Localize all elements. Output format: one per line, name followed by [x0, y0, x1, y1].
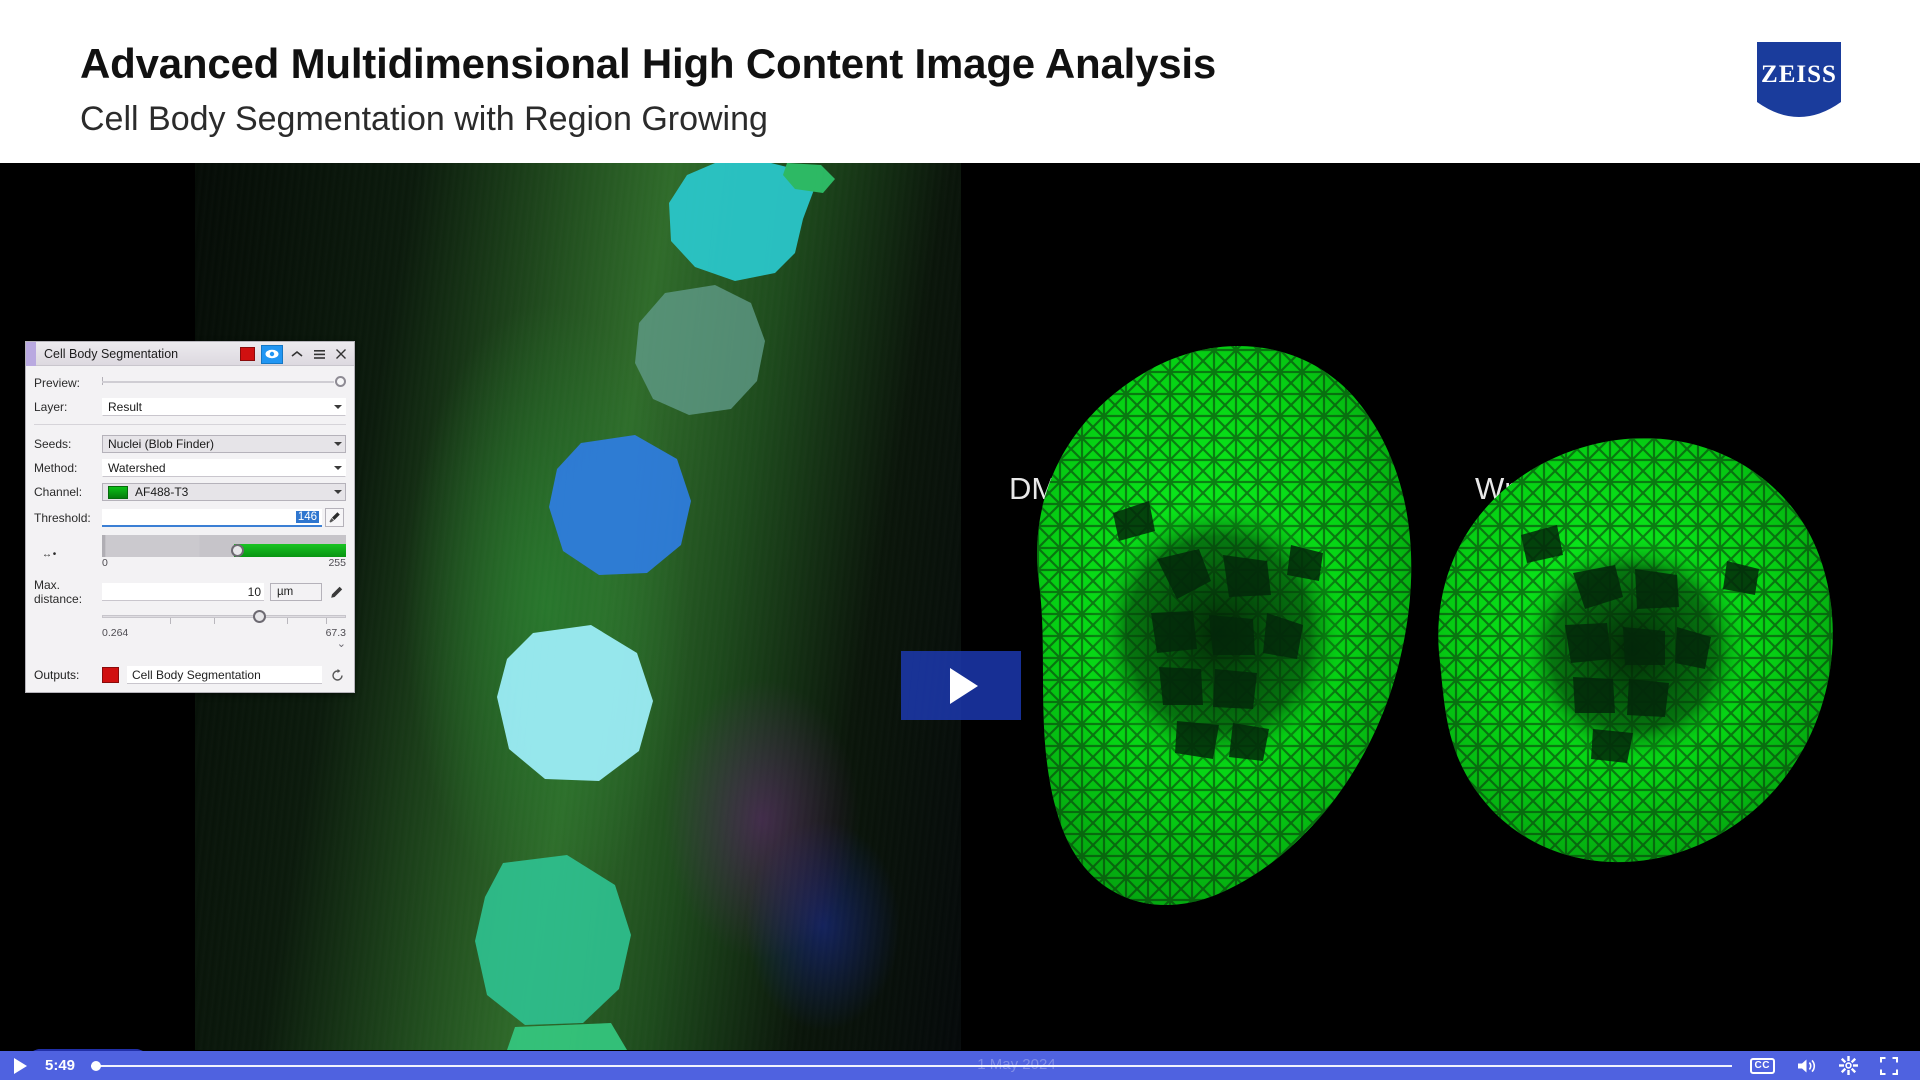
- page-header: Advanced Multidimensional High Content I…: [0, 0, 1920, 163]
- seeds-row[interactable]: Seeds: Nuclei (Blob Finder): [34, 433, 346, 455]
- page-subtitle: Cell Body Segmentation with Region Growi…: [80, 100, 768, 139]
- zeiss-logo-text: ZEISS: [1761, 61, 1837, 88]
- max-distance-slider[interactable]: [102, 609, 346, 625]
- dialog-title: Cell Body Segmentation: [44, 347, 178, 361]
- play-button[interactable]: [14, 1058, 27, 1074]
- max-distance-unit-select[interactable]: µm: [270, 583, 322, 601]
- organoid-dmso: [1037, 346, 1411, 905]
- layer-value: Result: [108, 400, 142, 414]
- method-value: Watershed: [108, 461, 166, 475]
- organoid-graphics: [961, 163, 1920, 1050]
- preview-row[interactable]: Preview:: [34, 372, 346, 394]
- threshold-max-label: 255: [328, 557, 346, 569]
- threshold-label: Threshold:: [34, 511, 102, 525]
- time-display: 5:49: [45, 1057, 75, 1074]
- threshold-row[interactable]: Threshold: 146: [34, 507, 346, 529]
- preview-label: Preview:: [34, 376, 102, 390]
- channel-row[interactable]: Channel: AF488-T3: [34, 481, 346, 503]
- play-triangle-icon: [950, 668, 978, 704]
- seeds-value: Nuclei (Blob Finder): [108, 437, 214, 451]
- gear-icon[interactable]: [1839, 1056, 1858, 1075]
- outputs-value: Cell Body Segmentation: [132, 668, 261, 682]
- threshold-fill: [234, 544, 346, 557]
- reset-icon[interactable]: [328, 666, 346, 684]
- chevron-down-icon: [334, 405, 342, 409]
- max-distance-label: Max. distance:: [34, 578, 102, 606]
- outputs-color-swatch[interactable]: [102, 667, 119, 683]
- progress-track: [91, 1065, 1732, 1067]
- layer-select[interactable]: Result: [102, 398, 346, 416]
- chevron-down-icon: [334, 442, 342, 446]
- method-label: Method:: [34, 461, 102, 475]
- seeds-select[interactable]: Nuclei (Blob Finder): [102, 435, 346, 453]
- layer-label: Layer:: [34, 400, 102, 414]
- closed-captions-icon[interactable]: CC: [1750, 1058, 1775, 1074]
- channel-select[interactable]: AF488-T3: [102, 483, 346, 501]
- play-overlay-button[interactable]: [901, 651, 1021, 720]
- max-distance-slider-knob[interactable]: [253, 610, 266, 623]
- chevron-down-icon: [334, 466, 342, 470]
- color-swatch-icon[interactable]: [240, 347, 255, 361]
- volume-icon[interactable]: [1797, 1058, 1817, 1074]
- date-watermark: 1 May 2024: [977, 1056, 1055, 1073]
- channel-color-swatch: [108, 486, 128, 499]
- method-row[interactable]: Method: Watershed: [34, 457, 346, 479]
- threshold-input[interactable]: 146: [102, 509, 322, 527]
- threshold-value: 146: [296, 511, 319, 523]
- method-select[interactable]: Watershed: [102, 459, 346, 477]
- threshold-histogram[interactable]: ↔ • 0 255: [34, 533, 346, 567]
- page-title: Advanced Multidimensional High Content I…: [80, 40, 1216, 88]
- preview-slider-knob[interactable]: [335, 376, 346, 387]
- progress-handle[interactable]: [91, 1061, 101, 1071]
- outputs-name-input[interactable]: Cell Body Segmentation: [127, 666, 322, 684]
- max-distance-input[interactable]: 10: [102, 583, 264, 601]
- max-distance-slider-track: [102, 615, 346, 618]
- dialog-grip-handle[interactable]: [26, 342, 36, 366]
- channel-value: AF488-T3: [135, 485, 188, 499]
- zeiss-logo: ZEISS: [1757, 42, 1841, 120]
- pencil-icon[interactable]: [327, 583, 346, 602]
- chevron-up-icon[interactable]: [289, 345, 305, 363]
- histogram-plot: [102, 535, 346, 557]
- organoid-render-image: DMSO Control Wnt Inhibition: [961, 163, 1920, 1050]
- seeds-label: Seeds:: [34, 437, 102, 451]
- preview-slider[interactable]: [102, 374, 346, 392]
- histogram-spike: [102, 535, 105, 557]
- close-icon[interactable]: [333, 345, 349, 363]
- preview-slider-track: [102, 381, 334, 383]
- eye-icon[interactable]: [261, 345, 283, 364]
- organoid-wnt: [1438, 438, 1833, 862]
- cell-body-segmentation-dialog[interactable]: Cell Body Segmentation: [25, 341, 355, 693]
- threshold-min-label: 0: [102, 557, 108, 569]
- dialog-titlebar[interactable]: Cell Body Segmentation: [26, 342, 354, 366]
- hamburger-menu-icon[interactable]: [311, 345, 327, 363]
- video-player-controls[interactable]: 5:49 1 May 2024 CC: [0, 1051, 1920, 1080]
- layer-row[interactable]: Layer: Result: [34, 396, 346, 418]
- fullscreen-icon[interactable]: [1880, 1057, 1898, 1075]
- outputs-label: Outputs:: [34, 668, 102, 682]
- channel-label: Channel:: [34, 485, 102, 499]
- video-stage[interactable]: DMSO Control Wnt Inhibition: [0, 163, 1920, 1051]
- histogram-range-icon: ↔ •: [42, 549, 55, 560]
- max-distance-unit: µm: [277, 586, 293, 598]
- expand-more-icon[interactable]: ⌄: [34, 637, 346, 650]
- chevron-down-icon: [334, 490, 342, 494]
- max-distance-min-label: 0.264: [102, 627, 128, 639]
- cc-label: CC: [1750, 1058, 1775, 1074]
- max-distance-row[interactable]: Max. distance: 10 µm: [34, 581, 346, 603]
- outputs-row[interactable]: Outputs: Cell Body Segmentation: [34, 666, 346, 684]
- max-distance-value: 10: [248, 585, 261, 599]
- eyedropper-icon[interactable]: [325, 508, 344, 527]
- progress-bar[interactable]: 1 May 2024: [91, 1056, 1732, 1076]
- dialog-divider: [34, 424, 346, 425]
